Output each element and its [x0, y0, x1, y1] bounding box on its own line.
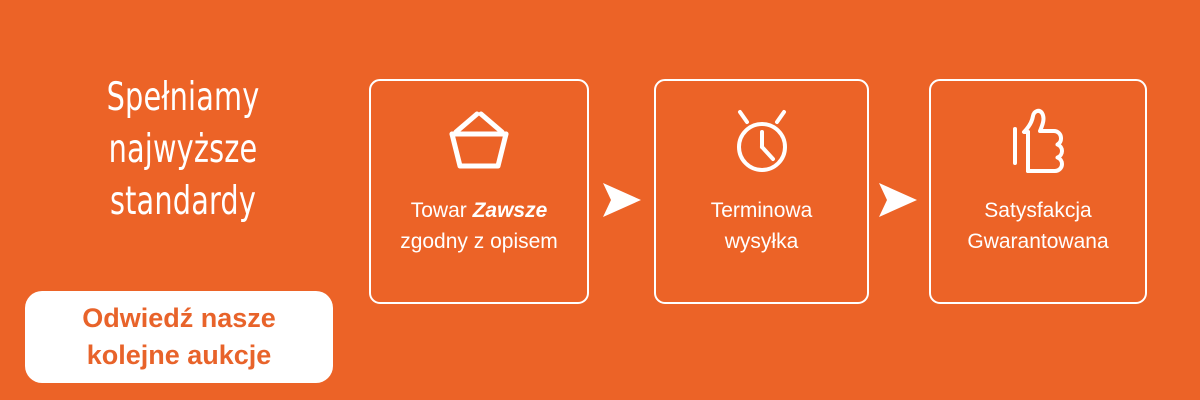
visit-auctions-button[interactable]: Odwiedź nasze kolejne aukcje — [25, 291, 333, 383]
feature-card-text-emphasis: Zawsze — [473, 199, 548, 222]
feature-card-text-line2: wysyłka — [725, 230, 799, 253]
feature-card-text-prefix: Satysfakcja — [984, 199, 1091, 222]
feature-card-accurate-description[interactable]: Towar Zawsze zgodny z opisem — [369, 79, 589, 304]
feature-card-text: Towar Zawsze zgodny z opisem — [394, 195, 564, 257]
feature-card-text-prefix: Towar — [411, 199, 473, 222]
feature-card-text: Terminowa wysyłka — [705, 195, 819, 257]
arrow-right-icon — [600, 181, 644, 219]
feature-card-text-line2: zgodny z opisem — [400, 230, 558, 253]
visit-auctions-button-label: Odwiedź nasze kolejne aukcje — [82, 300, 276, 374]
alarm-clock-icon — [723, 101, 801, 181]
page-title: Spełniamy najwyższe standardy — [40, 72, 327, 228]
feature-card-text-line2: Gwarantowana — [967, 230, 1108, 253]
promo-banner: Spełniamy najwyższe standardy Odwiedź na… — [0, 0, 1200, 400]
feature-card-text-prefix: Terminowa — [711, 199, 813, 222]
arrow-right-icon — [876, 181, 920, 219]
feature-card-text: Satysfakcja Gwarantowana — [961, 195, 1114, 257]
shopping-basket-icon — [442, 101, 516, 181]
thumbs-up-icon — [1002, 101, 1074, 181]
feature-card-on-time-shipping[interactable]: Terminowa wysyłka — [654, 79, 869, 304]
feature-card-satisfaction-guaranteed[interactable]: Satysfakcja Gwarantowana — [929, 79, 1147, 304]
